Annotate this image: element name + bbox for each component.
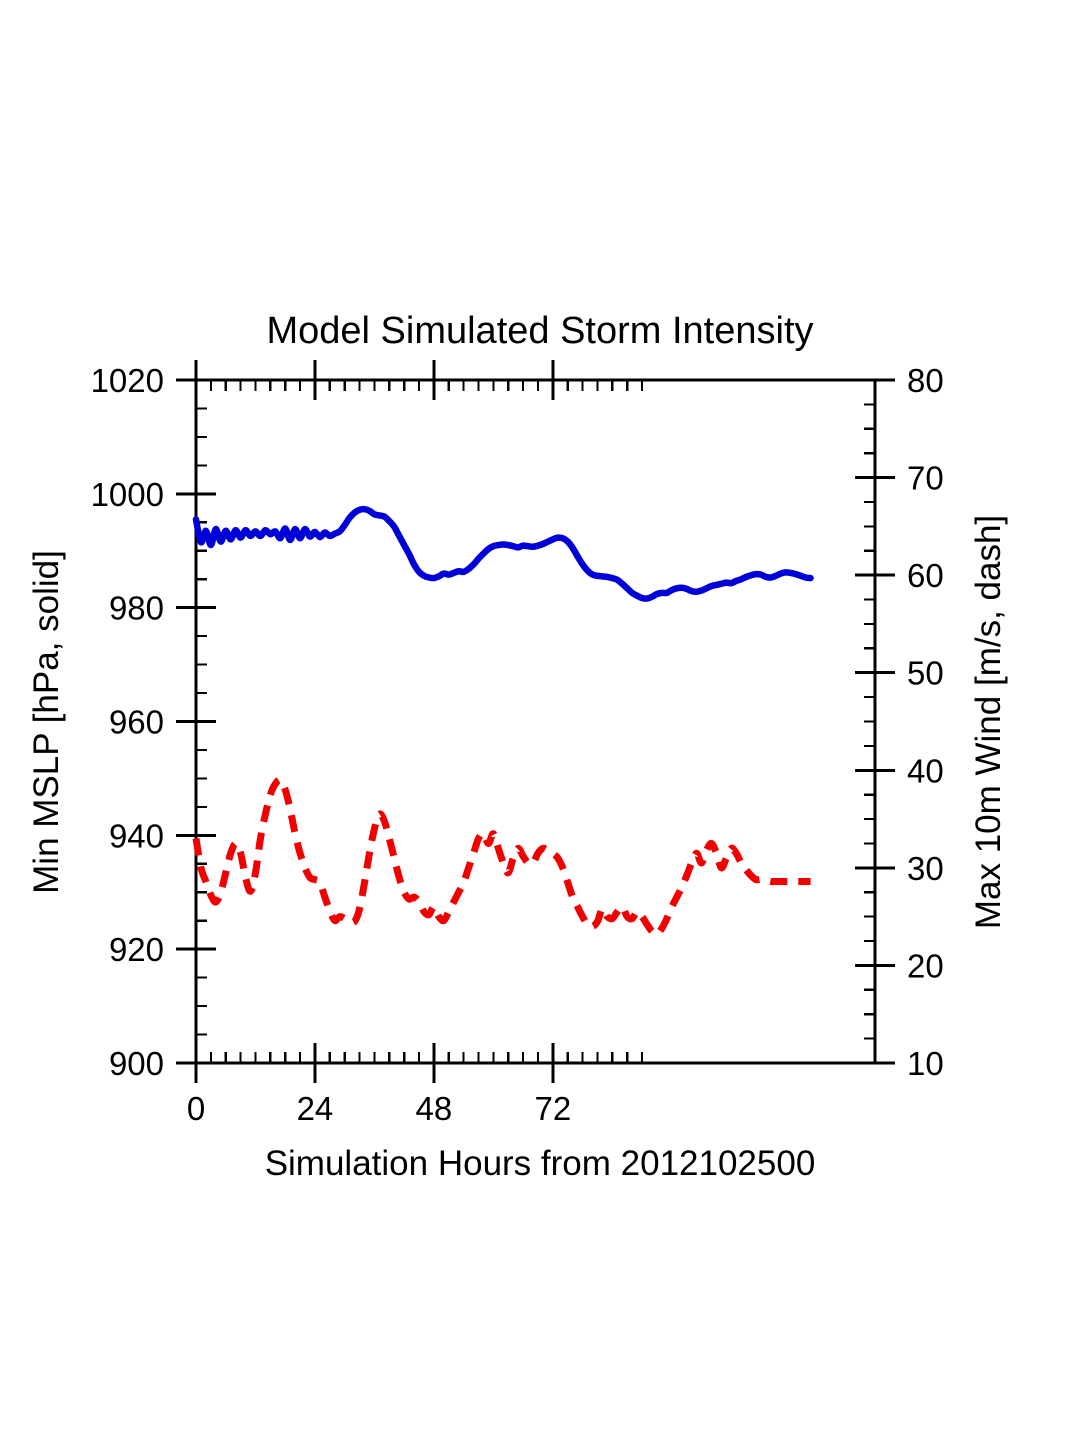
left-axis-tick-labels: 90092094096098010001020 bbox=[91, 362, 164, 1082]
left-tick-label: 940 bbox=[109, 817, 164, 854]
series-line-max-wind bbox=[196, 780, 811, 934]
right-tick-label: 30 bbox=[907, 850, 944, 887]
right-tick-label: 40 bbox=[907, 752, 944, 789]
right-tick-label: 20 bbox=[907, 947, 944, 984]
series-line-min-mslp bbox=[196, 509, 811, 598]
right-tick-label: 10 bbox=[907, 1045, 944, 1082]
page-title: Model Simulated Storm Intensity bbox=[266, 310, 813, 352]
y-axis-right-title: Max 10m Wind [m/s, dash] bbox=[969, 515, 1008, 929]
bottom-tick-label: 72 bbox=[534, 1090, 571, 1127]
bottom-tick-label: 24 bbox=[297, 1090, 334, 1127]
bottom-tick-label: 0 bbox=[187, 1090, 205, 1127]
left-tick-label: 960 bbox=[109, 704, 164, 741]
left-tick-label: 900 bbox=[109, 1045, 164, 1082]
bottom-tick-label: 48 bbox=[416, 1090, 453, 1127]
y-axis-left-title: Min MSLP [hPa, solid] bbox=[27, 550, 66, 894]
left-tick-label: 1020 bbox=[91, 362, 164, 399]
chart-figure: Model Simulated Storm Intensity 90092094… bbox=[0, 0, 1075, 1450]
right-tick-label: 60 bbox=[907, 557, 944, 594]
x-axis-title: Simulation Hours from 2012102500 bbox=[265, 1144, 816, 1183]
left-tick-label: 1000 bbox=[91, 476, 164, 513]
left-tick-label: 980 bbox=[109, 590, 164, 627]
right-tick-label: 50 bbox=[907, 655, 944, 692]
right-tick-label: 80 bbox=[907, 362, 944, 399]
plot-frame bbox=[196, 380, 875, 1063]
right-tick-label: 70 bbox=[907, 460, 944, 497]
left-tick-label: 920 bbox=[109, 931, 164, 968]
storm-intensity-chart: Model Simulated Storm Intensity 90092094… bbox=[0, 0, 1075, 1450]
bottom-axis-tick-labels: 0244872 bbox=[187, 1090, 571, 1127]
right-axis-tick-labels: 1020304050607080 bbox=[907, 362, 944, 1082]
